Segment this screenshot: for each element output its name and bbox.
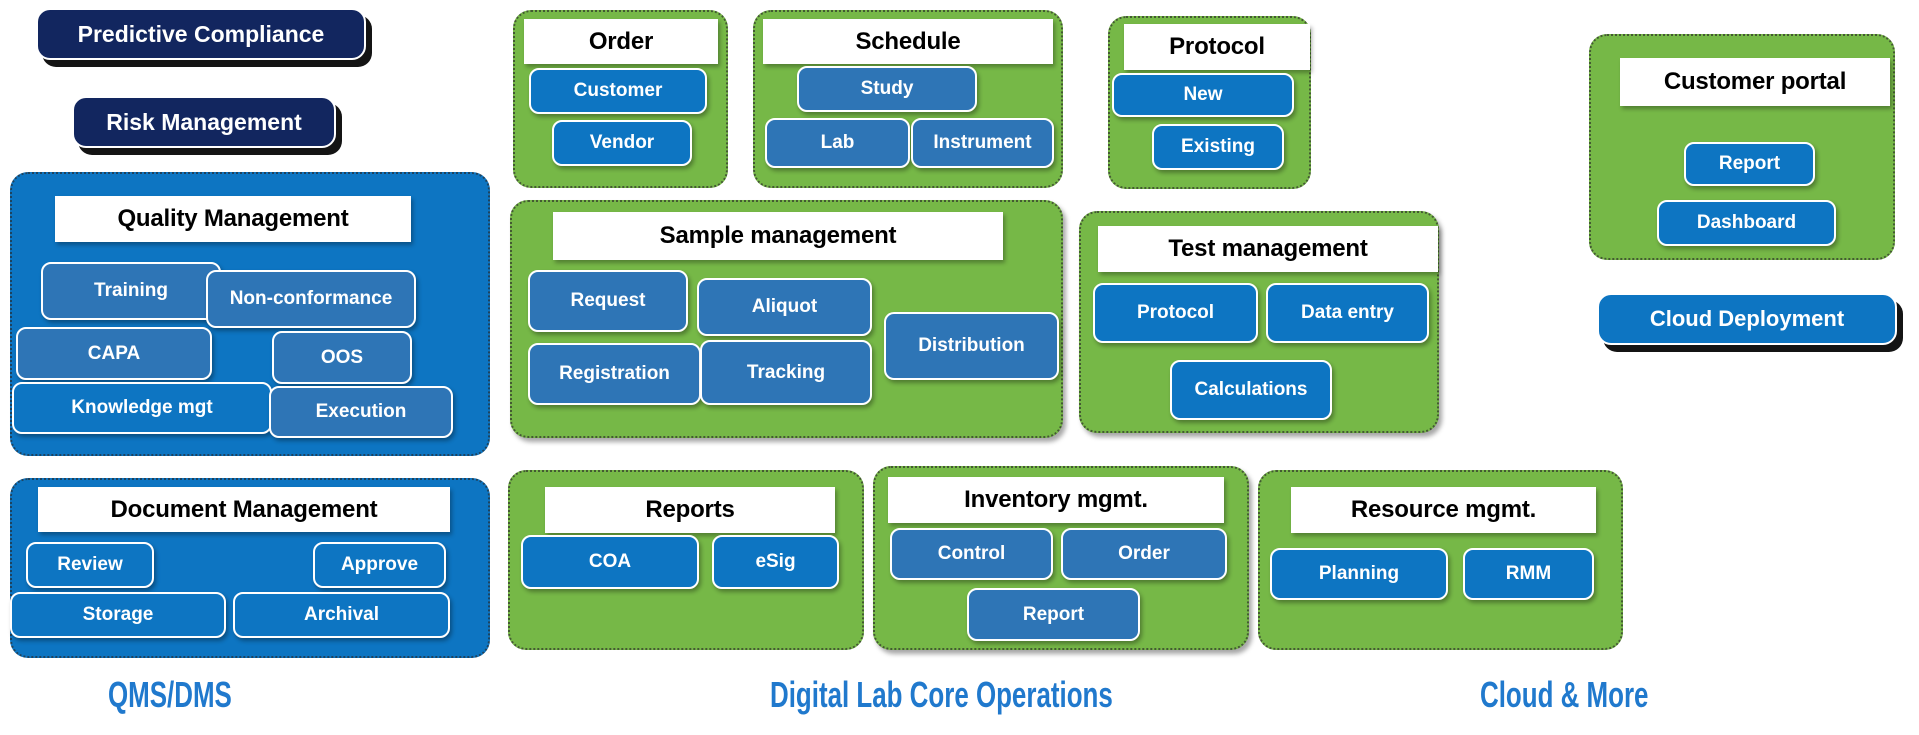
chip-instrument[interactable]: Instrument	[911, 118, 1054, 168]
chip-capa[interactable]: CAPA	[16, 327, 212, 380]
chip-label: Non-conformance	[230, 289, 393, 309]
chip-label: Control	[938, 544, 1006, 564]
banner-label: Risk Management	[106, 109, 302, 136]
chip-label: Customer	[574, 81, 663, 101]
group-title-test-management: Test management	[1098, 226, 1438, 272]
plate-label: Customer portal	[1664, 68, 1846, 96]
chip-inventory-report[interactable]: Report	[967, 588, 1140, 641]
group-title-document-management: Document Management	[38, 487, 450, 532]
chip-rmm[interactable]: RMM	[1463, 548, 1594, 600]
plate-label: Order	[589, 28, 653, 56]
chip-label: Planning	[1319, 564, 1399, 584]
chip-label: Archival	[304, 605, 379, 625]
chip-vendor[interactable]: Vendor	[552, 120, 692, 166]
chip-inventory-order[interactable]: Order	[1061, 528, 1227, 580]
chip-archival[interactable]: Archival	[233, 592, 450, 638]
chip-storage[interactable]: Storage	[10, 592, 226, 638]
group-title-customer-portal: Customer portal	[1620, 58, 1890, 106]
plate-label: Quality Management	[117, 205, 348, 233]
chip-non-conformance[interactable]: Non-conformance	[206, 270, 416, 328]
chip-data-entry[interactable]: Data entry	[1266, 283, 1429, 343]
chip-label: Protocol	[1137, 303, 1214, 323]
chip-registration[interactable]: Registration	[528, 343, 701, 405]
chip-label: Data entry	[1301, 303, 1394, 323]
chip-label: Registration	[559, 364, 670, 384]
chip-study[interactable]: Study	[797, 66, 977, 112]
caption-label: QMS/DMS	[108, 674, 232, 715]
chip-request[interactable]: Request	[528, 270, 688, 332]
chip-approve[interactable]: Approve	[313, 542, 446, 588]
group-title-inventory-management: Inventory mgmt.	[888, 477, 1224, 523]
group-title-sample-management: Sample management	[553, 212, 1003, 260]
plate-label: Resource mgmt.	[1351, 496, 1536, 524]
chip-existing[interactable]: Existing	[1152, 124, 1284, 170]
group-title-order: Order	[524, 19, 718, 64]
banner-risk-management[interactable]: Risk Management	[72, 96, 336, 148]
chip-label: Existing	[1181, 137, 1255, 157]
chip-label: Lab	[821, 133, 855, 153]
chip-esig[interactable]: eSig	[712, 535, 839, 589]
chip-label: COA	[589, 552, 631, 572]
group-title-schedule: Schedule	[763, 19, 1053, 64]
chip-oos[interactable]: OOS	[272, 331, 412, 384]
caption-cloud-and-more: Cloud & More	[1480, 674, 1648, 716]
chip-customer[interactable]: Customer	[529, 68, 707, 114]
chip-label: Distribution	[918, 336, 1025, 356]
banner-cloud-deployment[interactable]: Cloud Deployment	[1597, 293, 1897, 345]
group-title-resource-management: Resource mgmt.	[1291, 487, 1596, 533]
banner-predictive-compliance[interactable]: Predictive Compliance	[36, 8, 366, 60]
plate-label: Sample management	[660, 222, 897, 250]
chip-label: Approve	[341, 555, 418, 575]
chip-label: Dashboard	[1697, 213, 1796, 233]
chip-tracking[interactable]: Tracking	[700, 340, 872, 405]
chip-label: Report	[1023, 605, 1084, 625]
group-title-reports: Reports	[545, 487, 835, 533]
chip-label: RMM	[1506, 564, 1551, 584]
chip-label: Request	[571, 291, 646, 311]
chip-review[interactable]: Review	[26, 542, 154, 588]
chip-label: Training	[94, 281, 168, 301]
chip-label: Aliquot	[752, 297, 817, 317]
chip-label: Tracking	[747, 363, 825, 383]
chip-calculations[interactable]: Calculations	[1170, 360, 1332, 420]
chip-execution[interactable]: Execution	[269, 386, 453, 438]
chip-label: Storage	[83, 605, 154, 625]
group-title-protocol: Protocol	[1124, 24, 1310, 70]
plate-label: Inventory mgmt.	[964, 486, 1148, 514]
chip-label: CAPA	[88, 344, 140, 364]
chip-label: OOS	[321, 348, 363, 368]
chip-label: Study	[861, 79, 914, 99]
chip-portal-report[interactable]: Report	[1684, 142, 1815, 186]
chip-portal-dashboard[interactable]: Dashboard	[1657, 200, 1836, 246]
chip-new[interactable]: New	[1112, 73, 1294, 117]
chip-label: Instrument	[933, 133, 1031, 153]
chip-test-protocol[interactable]: Protocol	[1093, 283, 1258, 343]
caption-qms-dms: QMS/DMS	[108, 674, 232, 716]
plate-label: Protocol	[1169, 33, 1265, 61]
chip-label: Execution	[316, 402, 407, 422]
caption-label: Digital Lab Core Operations	[770, 674, 1113, 715]
chip-label: Report	[1719, 154, 1780, 174]
plate-label: Document Management	[111, 496, 378, 524]
banner-label: Cloud Deployment	[1650, 306, 1844, 332]
chip-label: Vendor	[590, 133, 654, 153]
chip-planning[interactable]: Planning	[1270, 548, 1448, 600]
diagram-canvas: Predictive Compliance Risk Management Qu…	[0, 0, 1919, 735]
chip-control[interactable]: Control	[890, 528, 1053, 580]
chip-label: Review	[57, 555, 122, 575]
plate-label: Test management	[1168, 235, 1367, 263]
plate-label: Schedule	[855, 28, 960, 56]
caption-label: Cloud & More	[1480, 674, 1648, 715]
chip-label: Calculations	[1195, 380, 1308, 400]
chip-label: Knowledge mgt	[71, 398, 212, 418]
group-title-quality-management: Quality Management	[55, 196, 411, 242]
chip-label: New	[1183, 85, 1222, 105]
plate-label: Reports	[645, 496, 734, 524]
chip-knowledge-mgt[interactable]: Knowledge mgt	[12, 382, 272, 434]
chip-label: eSig	[755, 552, 795, 572]
chip-training[interactable]: Training	[41, 262, 221, 320]
banner-label: Predictive Compliance	[78, 21, 325, 48]
chip-lab[interactable]: Lab	[765, 118, 910, 168]
chip-coa[interactable]: COA	[521, 535, 699, 589]
caption-digital-lab-core-operations: Digital Lab Core Operations	[770, 674, 1113, 716]
chip-label: Order	[1118, 544, 1170, 564]
chip-aliquot[interactable]: Aliquot	[697, 278, 872, 336]
chip-distribution[interactable]: Distribution	[884, 312, 1059, 380]
